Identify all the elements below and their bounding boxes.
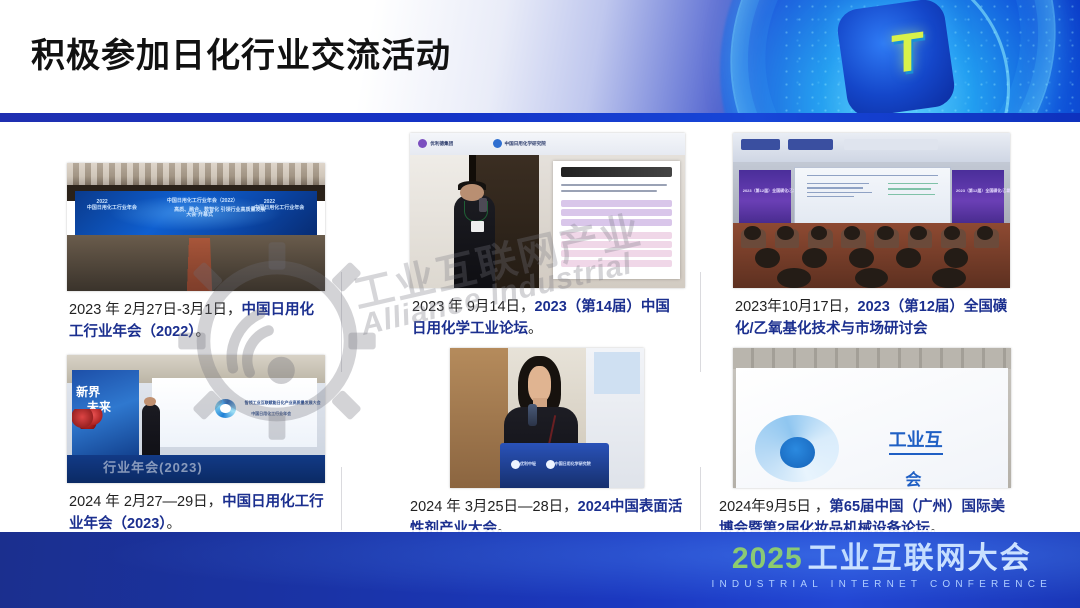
conference-t-logo-icon: T	[891, 23, 924, 82]
column-divider-1	[341, 272, 342, 372]
gallery-grid: 2022 中国日用化工行业年会 中国日用化工行业年会（2022） 高质、融合、数…	[0, 122, 1080, 532]
header-divider-line	[0, 113, 1080, 122]
photo2-logo-2-label: 中国日用化学研究院	[505, 141, 546, 147]
gallery-item-3[interactable]: 2023（第12届）全国磺化/乙氧基化技术与市场研讨会 2023（第12届）全国…	[733, 133, 1010, 353]
caption-3-part-plain: 2023年10月17日，	[735, 299, 858, 315]
caption-2-part-plain: 2023 年 9月14日，	[412, 299, 535, 315]
column-divider-2	[700, 272, 701, 372]
conference-title-cn: 工业互联网大会	[808, 544, 1032, 574]
gallery-photo-6[interactable]: 工业互 会	[733, 348, 1011, 488]
gallery-caption-2: 2023 年 9月14日，2023（第14届）中国日用化学工业论坛。	[412, 296, 684, 340]
photo4-stage-label: 行业年会(2023)	[103, 457, 203, 476]
caption-6-part-plain: 2024年9月5日 ，	[719, 499, 829, 515]
photo5-lectern-logo-2: 中国日用化学研究院	[555, 461, 591, 467]
photo6-screen-text-1: 工业互	[889, 426, 943, 455]
gallery-photo-4[interactable]: 智领工业互联赋能日化产业高质量发展大会 中国日用化工行业年会 新界 未来 行业年…	[67, 355, 325, 483]
gallery-caption-4: 2024 年 2月27—29日，中国日用化工行业年会（2023）。	[69, 491, 325, 535]
gallery-caption-3: 2023年10月17日，2023（第12届）全国磺化/乙氧基化技术与市场研讨会	[735, 296, 1011, 340]
caption-4-part-plain: 2024 年 2月27—29日，	[69, 494, 222, 510]
gallery-item-5[interactable]: 优利中轻 中国日用化学研究院 2024 年 3月25日—28日，2024中国表面…	[450, 348, 684, 548]
gallery-item-1[interactable]: 2022 中国日用化工行业年会 中国日用化工行业年会（2022） 高质、融合、数…	[67, 163, 325, 353]
gallery-photo-3[interactable]: 2023（第12届）全国磺化/乙氧基化技术与市场研讨会 2023（第12届）全国…	[733, 133, 1010, 288]
gallery-item-2[interactable]: 优利德集团 中国日用化学研究院	[410, 133, 685, 353]
caption-1-part-plain: 2023 年 2月27日-3月1日，	[69, 302, 241, 318]
gallery-caption-1: 2023 年 2月27日-3月1日，中国日用化工行业年会（2022）。	[69, 299, 325, 343]
caption-2-part-period: 。	[528, 321, 543, 337]
caption-1-part-period: 。	[196, 324, 211, 340]
caption-5-part-plain: 2024 年 3月25日—28日，	[410, 499, 578, 515]
slide-footer: 2025 工业互联网大会 INDUSTRIAL INTERNET CONFERE…	[0, 532, 1080, 608]
slide-canvas: T 积极参加日化行业交流活动 2022 中国日用化工行业年会 中国日用化工行业年…	[0, 0, 1080, 608]
gallery-item-4[interactable]: 智领工业互联赋能日化产业高质量发展大会 中国日用化工行业年会 新界 未来 行业年…	[67, 355, 325, 545]
photo2-logo-1-label: 优利德集团	[430, 141, 453, 147]
gallery-photo-2[interactable]: 优利德集团 中国日用化学研究院	[410, 133, 685, 288]
photo6-screen-text-2: 会	[905, 466, 921, 488]
gallery-photo-5[interactable]: 优利中轻 中国日用化学研究院	[450, 348, 644, 488]
gallery-photo-1[interactable]: 2022 中国日用化工行业年会 中国日用化工行业年会（2022） 高质、融合、数…	[67, 163, 325, 291]
conference-year: 2025	[732, 544, 803, 574]
gallery-item-6[interactable]: 工业互 会 2024年9月5日 ，第65届中国（广州）国际美博会暨第2届化妆品机…	[733, 348, 1011, 548]
conference-logo: 2025 工业互联网大会 INDUSTRIAL INTERNET CONFERE…	[712, 544, 1052, 590]
photo5-lectern-logo-1: 优利中轻	[520, 461, 536, 467]
page-title: 积极参加日化行业交流活动	[31, 28, 451, 77]
conference-title-en: INDUSTRIAL INTERNET CONFERENCE	[712, 580, 1052, 590]
